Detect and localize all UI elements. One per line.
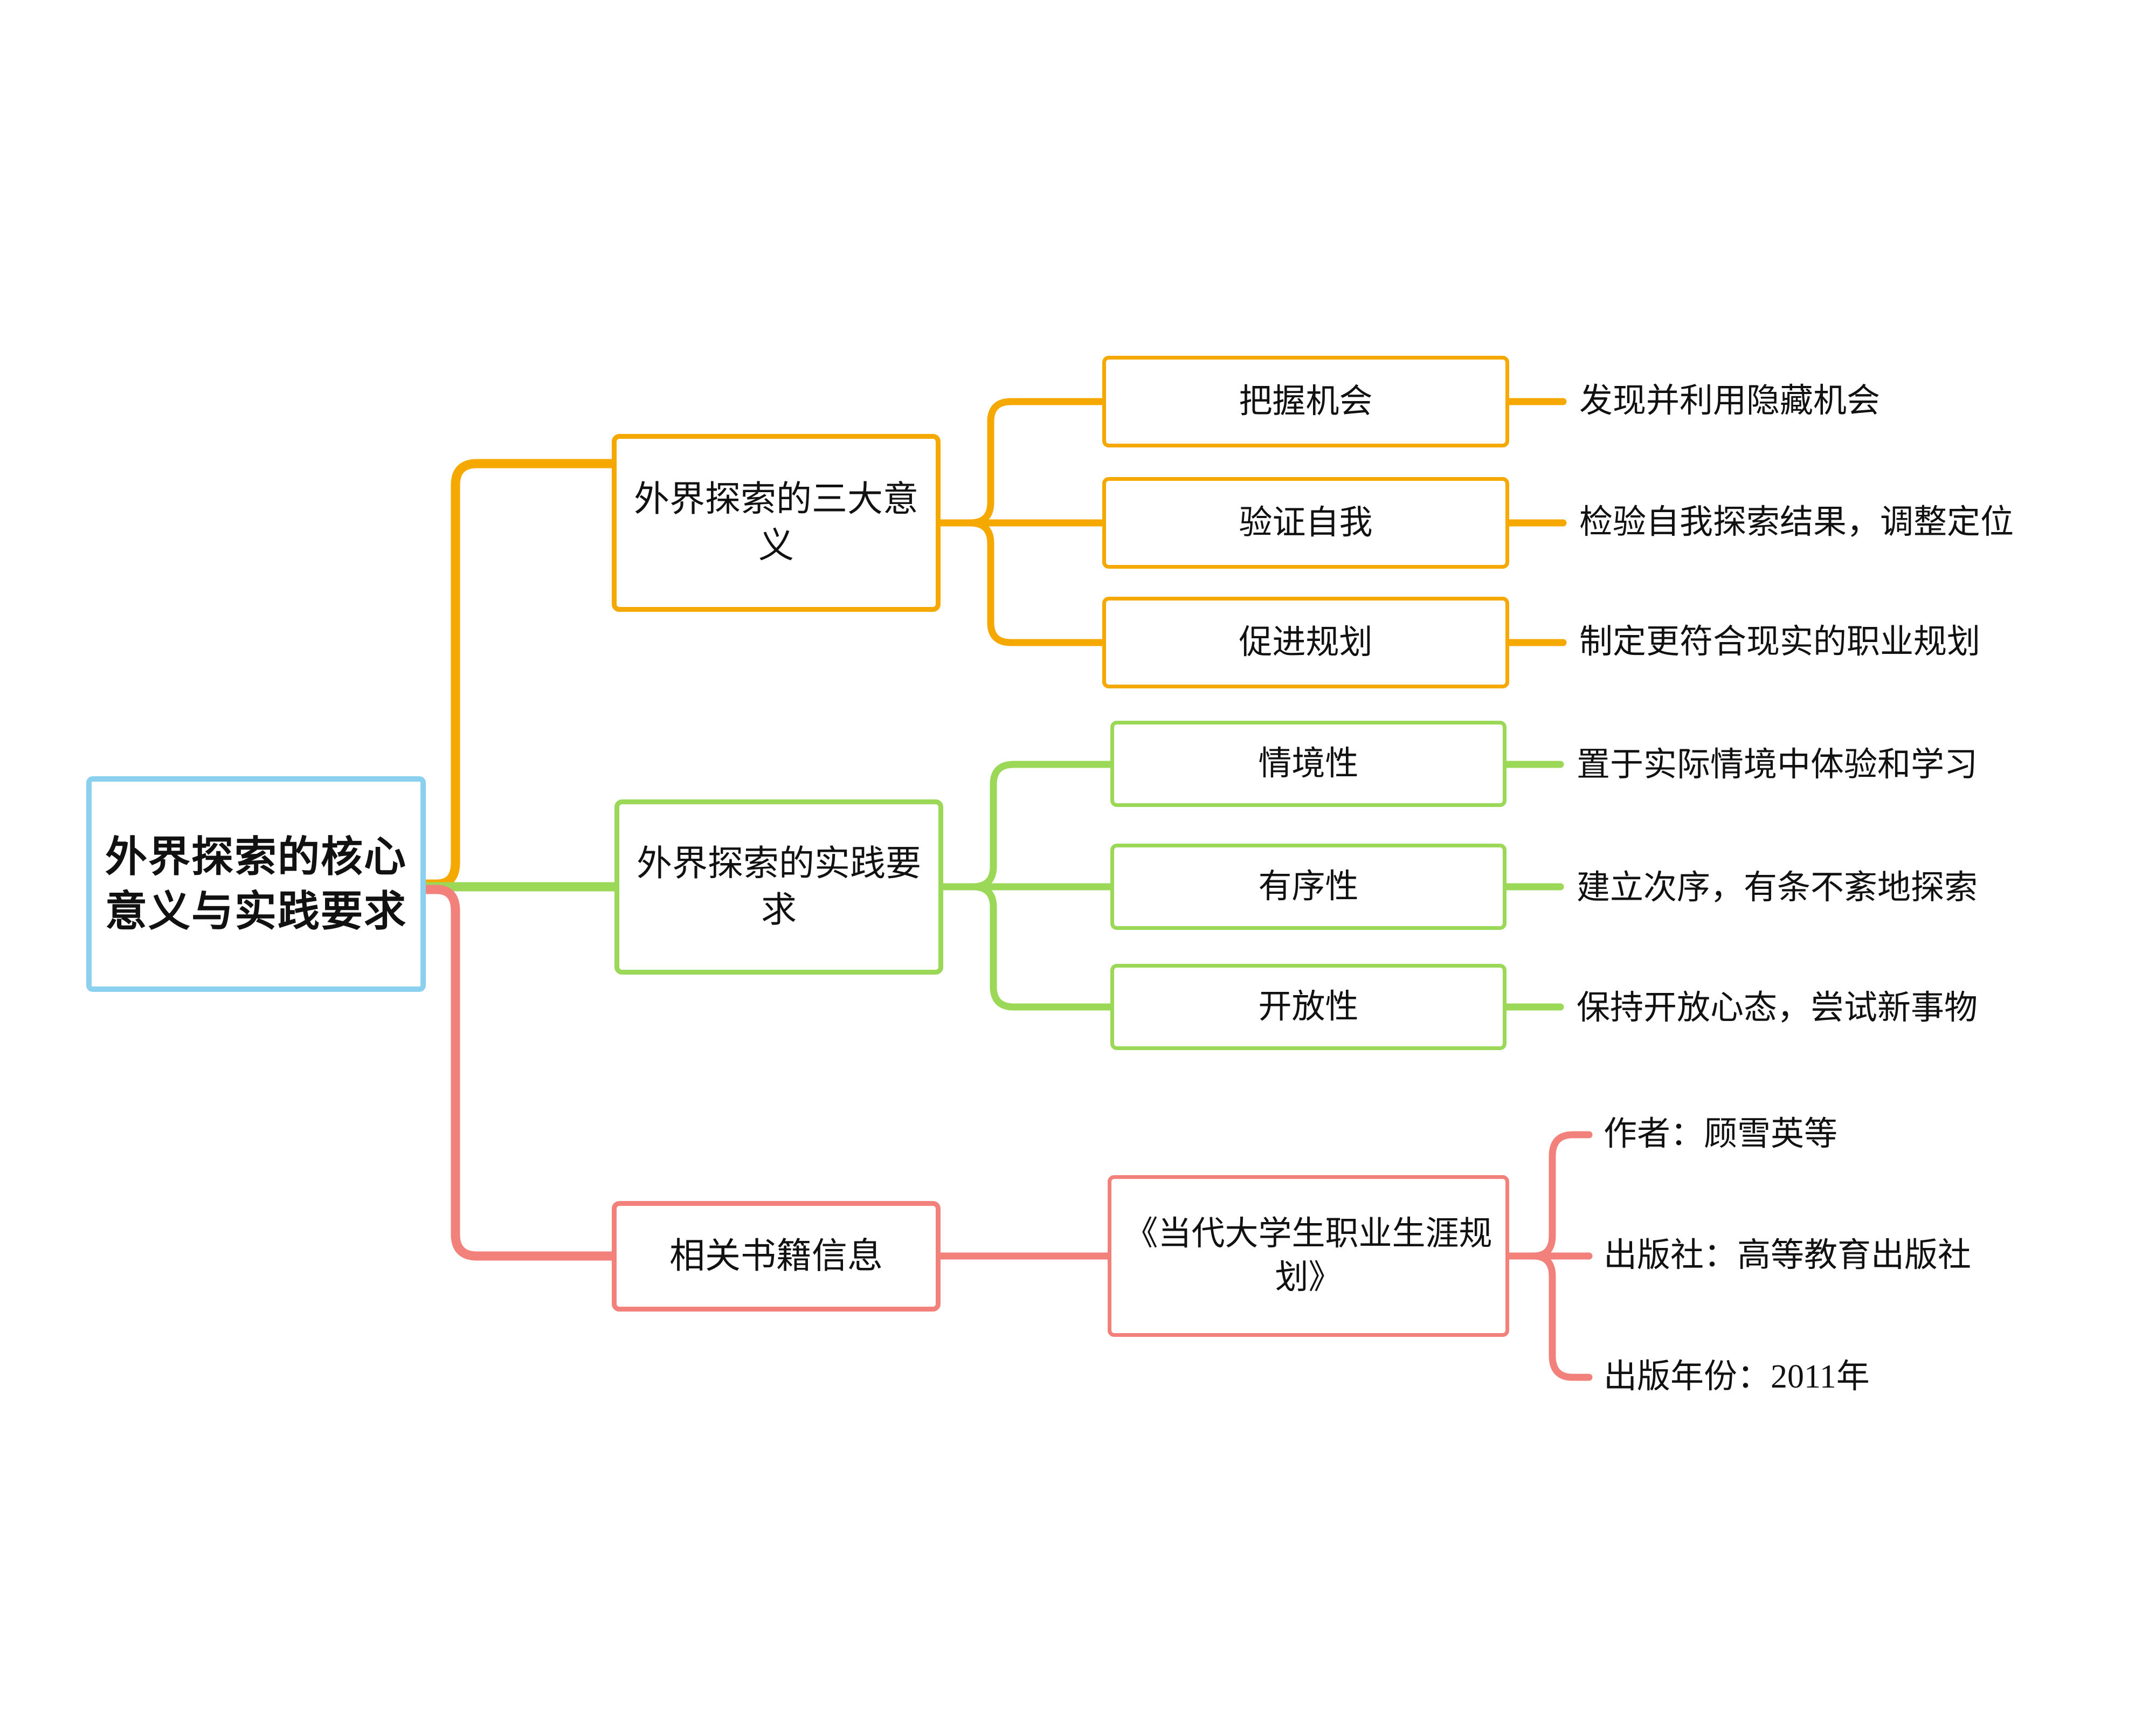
root-node[interactable]: 外界探索的核心意义与实践要求 <box>86 776 426 992</box>
leaf-node-4-label: 情境性 <box>1253 742 1364 786</box>
connector-book-to-detail-3 <box>1509 1256 1589 1377</box>
book-detail-year: 出版年份：2011年 <box>1604 1348 2143 1407</box>
branch-node-3-label: 相关书籍信息 <box>664 1233 888 1280</box>
book-detail-publisher-text: 出版社：高等教育出版社 <box>1604 1235 1971 1277</box>
book-detail-publisher: 出版社：高等教育出版社 <box>1604 1226 2148 1286</box>
book-detail-author: 作者：顾雪英等 <box>1604 1105 2143 1164</box>
leaf-node-5-description-text: 建立次序，有条不紊地探索 <box>1577 867 1978 909</box>
book-detail-year-text: 出版年份：2011年 <box>1604 1356 1870 1398</box>
book-node[interactable]: 《当代大学生职业生涯规划》 <box>1108 1175 1509 1337</box>
leaf-node-2-description-text: 检验自我探索结果，调整定位 <box>1579 502 2014 544</box>
leaf-node-6[interactable]: 开放性 <box>1110 964 1507 1050</box>
leaf-node-6-label: 开放性 <box>1253 985 1364 1029</box>
connector-book-to-detail-1 <box>1509 1135 1589 1256</box>
leaf-node-6-description-text: 保持开放心态，尝试新事物 <box>1577 988 1978 1030</box>
connector-root-to-branch-1 <box>426 464 612 884</box>
branch-node-1-label: 外界探索的三大意义 <box>617 477 936 569</box>
leaf-node-1-description-text: 发现并利用隐藏机会 <box>1579 381 1880 423</box>
leaf-node-1[interactable]: 把握机会 <box>1102 356 1509 447</box>
leaf-node-1-description: 发现并利用隐藏机会 <box>1579 372 2129 431</box>
leaf-node-5-label: 有序性 <box>1253 865 1364 909</box>
leaf-node-3-description: 制定更符合现实的职业规划 <box>1579 613 2145 672</box>
leaf-node-2-description: 检验自我探索结果，调整定位 <box>1579 493 2151 553</box>
leaf-node-3-label: 促进规划 <box>1233 621 1378 665</box>
connector-branch-2-to-leaf-1 <box>943 764 1110 887</box>
leaf-node-6-description: 保持开放心态，尝试新事物 <box>1577 979 2126 1038</box>
leaf-node-2[interactable]: 验证自我 <box>1102 477 1509 569</box>
leaf-node-4-description: 置于实际情境中体验和学习 <box>1577 736 2126 795</box>
leaf-node-5[interactable]: 有序性 <box>1110 844 1507 930</box>
leaf-node-1-label: 把握机会 <box>1233 380 1378 424</box>
connector-branch-1-to-leaf-1 <box>941 402 1102 523</box>
branch-node-2[interactable]: 外界探索的实践要求 <box>614 799 943 975</box>
book-detail-author-text: 作者：顾雪英等 <box>1604 1114 1837 1156</box>
leaf-node-4[interactable]: 情境性 <box>1110 721 1507 807</box>
connector-branch-1-to-leaf-3 <box>941 523 1102 643</box>
mindmap-canvas: 外界探索的核心意义与实践要求 外界探索的三大意义 把握机会 发现并利用隐藏机会 … <box>0 0 2156 1725</box>
connector-branch-2-to-leaf-3 <box>943 887 1110 1007</box>
leaf-node-5-description: 建立次序，有条不紊地探索 <box>1577 859 2126 918</box>
branch-node-3[interactable]: 相关书籍信息 <box>612 1201 941 1312</box>
leaf-node-2-label: 验证自我 <box>1233 501 1378 545</box>
branch-node-1[interactable]: 外界探索的三大意义 <box>612 434 941 612</box>
book-node-label: 《当代大学生职业生涯规划》 <box>1111 1212 1505 1299</box>
connector-root-to-branch-3 <box>426 889 612 1256</box>
leaf-node-3-description-text: 制定更符合现实的职业规划 <box>1579 622 1980 664</box>
root-node-label: 外界探索的核心意义与实践要求 <box>92 830 420 939</box>
leaf-node-4-description-text: 置于实际情境中体验和学习 <box>1577 744 1978 786</box>
branch-node-2-label: 外界探索的实践要求 <box>619 841 938 934</box>
leaf-node-3[interactable]: 促进规划 <box>1102 597 1509 688</box>
